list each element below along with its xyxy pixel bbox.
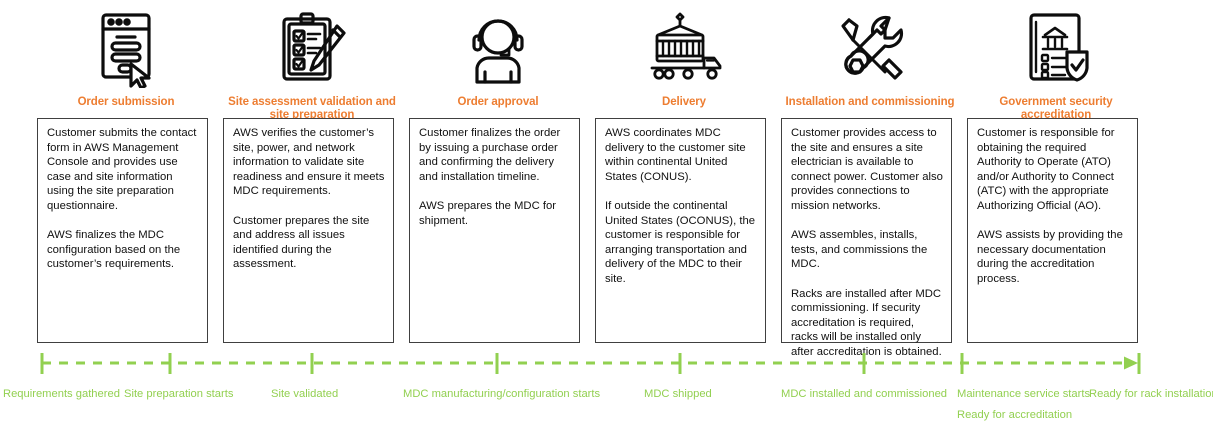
stage-column-installation: Installation and commissioning Customer … bbox=[777, 0, 963, 109]
stage-column-order-submission: Order submission Customer submits the co… bbox=[33, 0, 219, 109]
timeline-milestone-label: Site preparation starts bbox=[124, 387, 233, 402]
stage-paragraph: AWS finalizes the MDC configuration base… bbox=[47, 228, 199, 272]
stage-title: Delivery bbox=[591, 96, 777, 109]
stage-column-order-approval: Order approval Customer finalizes the or… bbox=[405, 0, 591, 109]
stage-paragraph: Customer finalizes the order by issuing … bbox=[419, 126, 571, 184]
process-timeline: Requirements gathered Site preparation s… bbox=[0, 352, 1213, 426]
stage-title: Order submission bbox=[33, 96, 219, 109]
stage-column-site-assessment: Site assessment validation and site prep… bbox=[219, 0, 405, 122]
stage-description-box: AWS verifies the customer’s site, power,… bbox=[223, 118, 394, 343]
clipboard-checklist-pencil-icon bbox=[219, 4, 405, 94]
stage-paragraph: AWS assembles, installs, tests, and comm… bbox=[791, 228, 943, 272]
stage-column-delivery: Delivery AWS coordinates MDC delivery to… bbox=[591, 0, 777, 109]
stage-column-accreditation: Government security accreditation Custom… bbox=[963, 0, 1149, 122]
stage-paragraph: Customer is responsible for obtaining th… bbox=[977, 126, 1129, 214]
stage-paragraph: AWS prepares the MDC for shipment. bbox=[419, 199, 571, 228]
stage-paragraph: If outside the continental United States… bbox=[605, 199, 757, 287]
stage-title: Order approval bbox=[405, 96, 591, 109]
government-document-shield-check-icon bbox=[963, 4, 1149, 94]
timeline-milestone-label: Ready for rack installation bbox=[1089, 387, 1213, 402]
stage-description-box: Customer submits the contact form in AWS… bbox=[37, 118, 208, 343]
headset-support-agent-icon bbox=[405, 4, 591, 94]
stage-description-box: AWS coordinates MDC delivery to the cust… bbox=[595, 118, 766, 343]
timeline-milestone-label: MDC installed and commissioned bbox=[781, 387, 947, 402]
timeline-milestone-label: MDC shipped bbox=[644, 387, 712, 402]
stage-paragraph: Racks are installed after MDC commission… bbox=[791, 287, 943, 360]
timeline-milestone-label: Maintenance service starts bbox=[957, 387, 1090, 402]
stage-paragraph: Customer submits the contact form in AWS… bbox=[47, 126, 199, 214]
mdc-deployment-process-diagram: Order submission Customer submits the co… bbox=[0, 0, 1213, 426]
timeline-milestone-sublabel: Ready for accreditation bbox=[957, 408, 1072, 423]
order-form-cursor-icon bbox=[33, 4, 219, 94]
stage-description-box: Customer provides access to the site and… bbox=[781, 118, 952, 343]
wrench-screwdriver-tools-icon bbox=[777, 4, 963, 94]
stage-paragraph: Customer provides access to the site and… bbox=[791, 126, 943, 214]
stage-description-box: Customer finalizes the order by issuing … bbox=[409, 118, 580, 343]
timeline-milestone-label: MDC manufacturing/configuration starts bbox=[403, 387, 600, 402]
timeline-milestone-label: Requirements gathered bbox=[3, 387, 120, 402]
stage-paragraph: AWS verifies the customer’s site, power,… bbox=[233, 126, 385, 199]
stage-description-box: Customer is responsible for obtaining th… bbox=[967, 118, 1138, 343]
stage-title: Installation and commissioning bbox=[777, 96, 963, 109]
stage-paragraph: AWS coordinates MDC delivery to the cust… bbox=[605, 126, 757, 184]
timeline-milestone-label: Site validated bbox=[271, 387, 338, 402]
shipping-container-truck-icon bbox=[591, 4, 777, 94]
timeline-axis bbox=[0, 352, 1213, 378]
stage-paragraph: Customer prepares the site and address a… bbox=[233, 214, 385, 272]
stage-paragraph: AWS assists by providing the necessary d… bbox=[977, 228, 1129, 286]
